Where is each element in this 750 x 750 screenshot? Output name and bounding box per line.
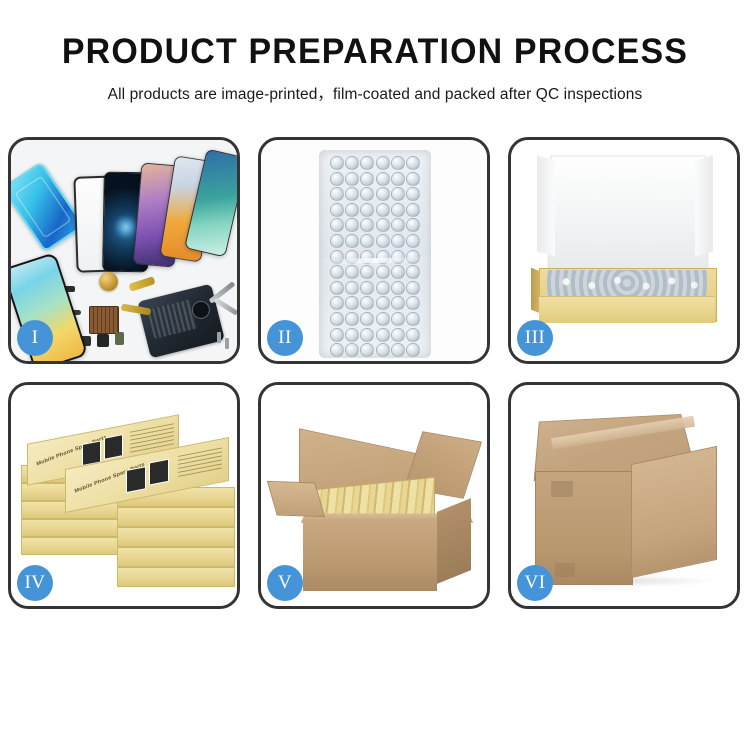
step-badge-6: VI bbox=[517, 565, 553, 601]
step-badge-1: I bbox=[17, 320, 53, 356]
step-panel-5[interactable]: V bbox=[258, 382, 490, 609]
bubble bbox=[330, 328, 344, 342]
bubble bbox=[391, 203, 405, 217]
bubble bbox=[360, 281, 374, 295]
bubble bbox=[360, 328, 374, 342]
sealed-carton-front bbox=[535, 471, 633, 585]
screw-part-2 bbox=[225, 338, 229, 349]
vibrator-motor-part bbox=[99, 272, 118, 291]
bubble bbox=[360, 218, 374, 232]
camera-module-part bbox=[97, 334, 109, 347]
bubble bbox=[376, 328, 390, 342]
bubble bbox=[345, 218, 359, 232]
bubble bbox=[406, 218, 420, 232]
bubble bbox=[360, 234, 374, 248]
bubble bbox=[376, 234, 390, 248]
bubble bbox=[406, 328, 420, 342]
bubble bbox=[345, 281, 359, 295]
bubble bbox=[330, 172, 344, 186]
bubble bbox=[391, 328, 405, 342]
carton-side-face bbox=[437, 498, 471, 584]
bubble bbox=[376, 265, 390, 279]
bubble bbox=[345, 187, 359, 201]
ic-chip-part bbox=[89, 306, 119, 334]
bubble bbox=[330, 281, 344, 295]
bubble bbox=[345, 296, 359, 310]
bubble bbox=[376, 156, 390, 170]
box-stack: Mobile Phone Spare Parts Mobile Phone Sp… bbox=[21, 409, 233, 593]
bubble bbox=[376, 312, 390, 326]
bubble bbox=[391, 343, 405, 357]
bubble bbox=[360, 265, 374, 279]
carton-handle-tab-bottom bbox=[555, 563, 575, 577]
bubble bbox=[345, 203, 359, 217]
bubble bbox=[406, 296, 420, 310]
bubble bbox=[406, 203, 420, 217]
step-panel-6[interactable]: VI bbox=[508, 382, 740, 609]
page-subtitle: All products are image-printed，film-coat… bbox=[0, 82, 750, 104]
inner-box-lid bbox=[547, 156, 708, 275]
inner-box-lid-flap-left bbox=[537, 155, 555, 256]
bubble bbox=[345, 234, 359, 248]
bubble bbox=[360, 187, 374, 201]
step-badge-2: II bbox=[267, 320, 303, 356]
inner-box-lid-flap-right bbox=[695, 155, 713, 256]
bubble bbox=[376, 281, 390, 295]
bubble bbox=[406, 172, 420, 186]
step-badge-5: V bbox=[267, 565, 303, 601]
bubble bbox=[406, 265, 420, 279]
bubble bbox=[330, 156, 344, 170]
step-panel-4[interactable]: Mobile Phone Spare Parts Mobile Phone Sp… bbox=[8, 382, 240, 609]
bubble bbox=[330, 343, 344, 357]
process-steps-grid: I II III bbox=[8, 137, 742, 609]
page-title: PRODUCT PREPARATION PROCESS bbox=[11, 34, 739, 69]
bubble bbox=[391, 265, 405, 279]
bubble bbox=[406, 312, 420, 326]
bubble bbox=[391, 218, 405, 232]
bubble bbox=[391, 281, 405, 295]
bubble bbox=[330, 312, 344, 326]
bubble bbox=[330, 234, 344, 248]
bubble bbox=[360, 156, 374, 170]
bubble-wrapped-contents bbox=[547, 270, 707, 296]
carton-front-face bbox=[303, 519, 437, 591]
bubble bbox=[360, 203, 374, 217]
bubble bbox=[406, 187, 420, 201]
bubble-wrap-bubbles bbox=[329, 156, 421, 352]
bubble bbox=[391, 234, 405, 248]
bubble bbox=[360, 312, 374, 326]
bubble bbox=[376, 172, 390, 186]
bubble bbox=[345, 343, 359, 357]
bubble bbox=[376, 218, 390, 232]
bubble bbox=[330, 265, 344, 279]
bubble bbox=[330, 203, 344, 217]
bubble bbox=[360, 172, 374, 186]
bubble bbox=[330, 296, 344, 310]
bubble bbox=[345, 328, 359, 342]
bubble bbox=[391, 312, 405, 326]
bubble bbox=[376, 203, 390, 217]
bubble bbox=[376, 296, 390, 310]
bubble bbox=[345, 312, 359, 326]
inner-box-tray-front bbox=[539, 296, 715, 323]
step-panel-3[interactable]: III bbox=[508, 137, 740, 364]
bubble bbox=[330, 218, 344, 232]
bubble bbox=[376, 343, 390, 357]
header: PRODUCT PREPARATION PROCESS All products… bbox=[0, 0, 750, 104]
bubble bbox=[376, 187, 390, 201]
step-badge-3: III bbox=[517, 320, 553, 356]
bubble bbox=[406, 234, 420, 248]
step-panel-2[interactable]: II bbox=[258, 137, 490, 364]
step-badge-4: IV bbox=[17, 565, 53, 601]
battery-connector-part bbox=[115, 332, 124, 345]
step-panel-1[interactable]: I bbox=[8, 137, 240, 364]
carton-flap-left bbox=[267, 481, 325, 517]
carton-handle-tab-top bbox=[551, 481, 573, 497]
screw-part-1 bbox=[217, 332, 221, 343]
bubble bbox=[345, 156, 359, 170]
bubble bbox=[391, 187, 405, 201]
bubble bbox=[345, 265, 359, 279]
sealed-carton-side bbox=[631, 446, 717, 578]
bubble bbox=[360, 296, 374, 310]
bubble bbox=[330, 187, 344, 201]
bubble bbox=[391, 156, 405, 170]
bubble bbox=[391, 296, 405, 310]
bubble bbox=[345, 172, 359, 186]
bubble bbox=[406, 156, 420, 170]
bubble bbox=[406, 281, 420, 295]
bubble bbox=[391, 172, 405, 186]
